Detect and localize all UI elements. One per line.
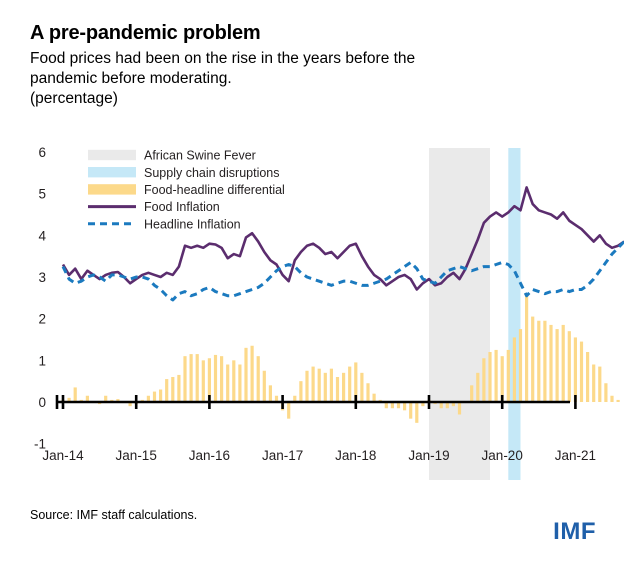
- differential-bar: [495, 350, 498, 402]
- differential-bar: [318, 369, 321, 402]
- differential-bar: [458, 402, 461, 415]
- differential-bar: [513, 337, 516, 402]
- y-tick-label: 1: [38, 353, 46, 368]
- differential-bar: [348, 367, 351, 402]
- differential-bar: [586, 352, 589, 402]
- differential-bar: [220, 356, 223, 402]
- differential-bar: [202, 360, 205, 402]
- differential-bar: [598, 367, 601, 402]
- chart-plot-area: -10123456 Jan-14Jan-15Jan-16Jan-17Jan-18…: [0, 130, 624, 480]
- differential-bar: [324, 373, 327, 402]
- differential-bar: [604, 383, 607, 402]
- page-title: A pre-pandemic problem: [30, 22, 260, 45]
- x-tick-label: Jan-21: [555, 448, 596, 463]
- differential-bar: [543, 321, 546, 402]
- differential-bar: [470, 385, 473, 402]
- differential-bar: [507, 350, 510, 402]
- differential-bar: [409, 402, 412, 419]
- differential-bar: [214, 355, 217, 402]
- shaded-band: [508, 148, 520, 480]
- legend-swatch: [88, 150, 136, 160]
- x-tick-label: Jan-16: [189, 448, 230, 463]
- legend-label: Food Inflation: [144, 200, 220, 214]
- differential-bar: [257, 356, 260, 402]
- differential-bar: [562, 325, 565, 402]
- differential-bar: [232, 360, 235, 402]
- differential-bar: [263, 371, 266, 402]
- differential-bar: [177, 375, 180, 402]
- differential-bar: [287, 402, 290, 419]
- differential-bars-group: [61, 294, 619, 423]
- differential-bar: [610, 396, 613, 402]
- differential-bar: [312, 367, 315, 402]
- differential-bar: [159, 390, 162, 403]
- y-axis-tick-labels: -10123456: [34, 145, 47, 452]
- differential-bar: [525, 294, 528, 402]
- legend-label: Supply chain disruptions: [144, 166, 280, 180]
- differential-bar: [342, 373, 345, 402]
- differential-bar: [251, 346, 254, 402]
- x-tick-label: Jan-14: [42, 448, 84, 463]
- chart-legend: African Swine FeverSupply chain disrupti…: [88, 149, 285, 232]
- differential-bar: [519, 329, 522, 402]
- differential-bar: [226, 365, 229, 403]
- x-tick-label: Jan-20: [482, 448, 523, 463]
- differential-bar: [165, 379, 168, 402]
- legend-label: Food-headline differential: [144, 183, 285, 197]
- y-tick-label: 2: [38, 312, 46, 327]
- source-note: Source: IMF staff calculations.: [30, 508, 197, 522]
- legend-swatch: [88, 184, 136, 194]
- differential-bar: [488, 352, 491, 402]
- differential-bar: [190, 354, 193, 402]
- differential-bar: [574, 337, 577, 402]
- shaded-bands-group: [429, 148, 521, 480]
- differential-bar: [330, 369, 333, 402]
- x-tick-label: Jan-17: [262, 448, 303, 463]
- y-tick-label: 4: [38, 228, 46, 243]
- differential-bar: [592, 365, 595, 403]
- y-tick-label: 3: [38, 270, 46, 285]
- differential-bar: [476, 373, 479, 402]
- differential-bar: [269, 385, 272, 402]
- shaded-band: [429, 148, 490, 480]
- subtitle-line-2: pandemic before moderating.: [30, 69, 570, 89]
- differential-bar: [153, 392, 156, 402]
- x-axis-tick-labels: Jan-14Jan-15Jan-16Jan-17Jan-18Jan-19Jan-…: [42, 448, 596, 463]
- subtitle-line-1: Food prices had been on the rise in the …: [30, 49, 570, 69]
- x-tick-label: Jan-15: [116, 448, 157, 463]
- differential-bar: [537, 321, 540, 402]
- differential-bar: [305, 371, 308, 402]
- differential-bar: [299, 381, 302, 402]
- differential-bar: [238, 365, 241, 403]
- subtitle-line-3: (percentage): [30, 89, 570, 109]
- differential-bar: [171, 377, 174, 402]
- imf-logo: IMF: [553, 518, 596, 546]
- differential-bar: [336, 377, 339, 402]
- inflation-chart-svg: -10123456 Jan-14Jan-15Jan-16Jan-17Jan-18…: [0, 130, 624, 480]
- y-tick-label: 6: [38, 145, 46, 160]
- legend-swatch: [88, 167, 136, 177]
- differential-bar: [244, 348, 247, 402]
- x-tick-label: Jan-18: [335, 448, 376, 463]
- differential-bar: [617, 400, 620, 402]
- y-tick-label: 5: [38, 187, 46, 202]
- page-subtitle: Food prices had been on the rise in the …: [30, 49, 570, 109]
- differential-bar: [531, 317, 534, 402]
- differential-bar: [415, 402, 418, 423]
- differential-bar: [196, 354, 199, 402]
- differential-bar: [360, 373, 363, 402]
- differential-bar: [482, 358, 485, 402]
- differential-bar: [74, 387, 77, 402]
- y-tick-label: 0: [38, 395, 46, 410]
- chart-page: A pre-pandemic problem Food prices had b…: [0, 0, 624, 582]
- differential-bar: [183, 356, 186, 402]
- legend-label: African Swine Fever: [144, 149, 256, 163]
- differential-bar: [568, 331, 571, 402]
- legend-label: Headline Inflation: [144, 217, 241, 231]
- differential-bar: [580, 342, 583, 402]
- differential-bar: [556, 329, 559, 402]
- differential-bar: [549, 325, 552, 402]
- x-tick-label: Jan-19: [408, 448, 449, 463]
- differential-bar: [366, 383, 369, 402]
